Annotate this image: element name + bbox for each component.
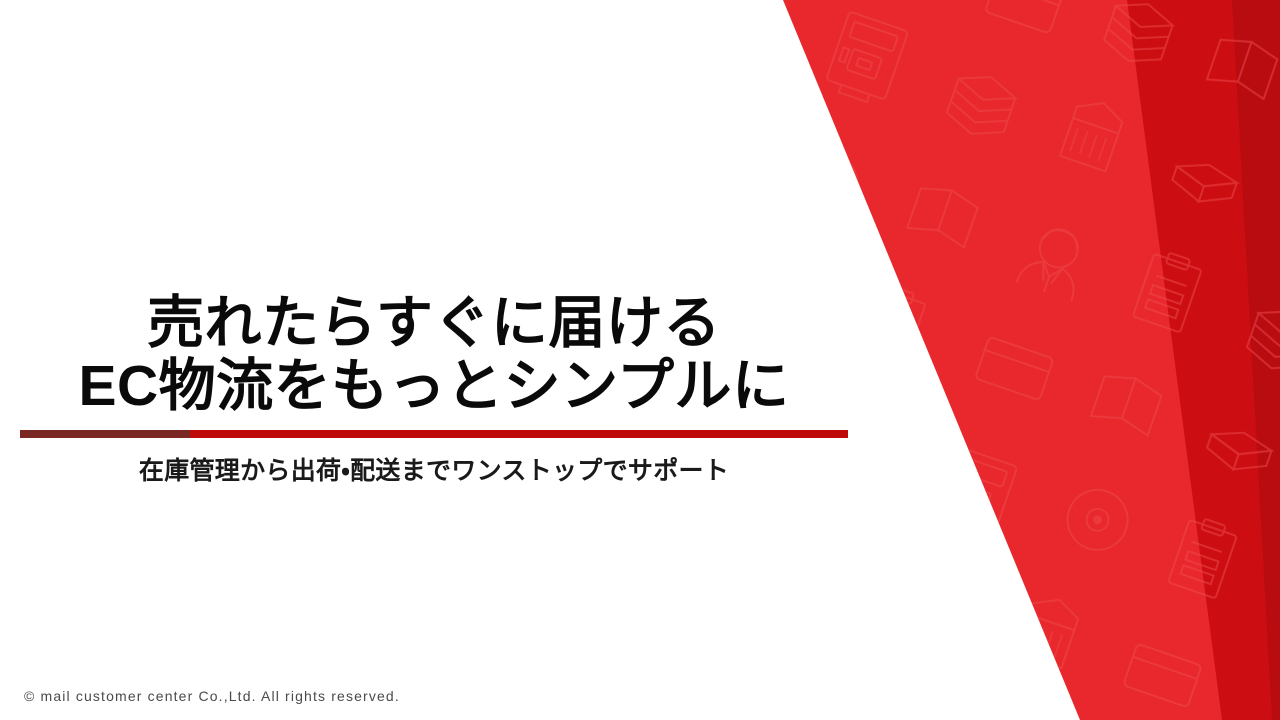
title-line-1: 売れたらすぐに届ける (20, 292, 848, 355)
title-line-2: EC物流をもっとシンプルに (20, 355, 848, 418)
divider-red-segment (190, 430, 848, 438)
title-slide: 売れたらすぐに届ける EC物流をもっとシンプルに 在庫管理から出荷・配送までワン… (0, 0, 1280, 720)
page-title: 売れたらすぐに届ける EC物流をもっとシンプルに (20, 292, 848, 417)
subtitle: 在庫管理から出荷・配送までワンストップでサポート (20, 455, 848, 488)
divider-dark-segment (20, 430, 190, 438)
title-divider (20, 430, 848, 438)
footer-copyright: © mail customer center Co.,Ltd. All righ… (24, 688, 400, 704)
